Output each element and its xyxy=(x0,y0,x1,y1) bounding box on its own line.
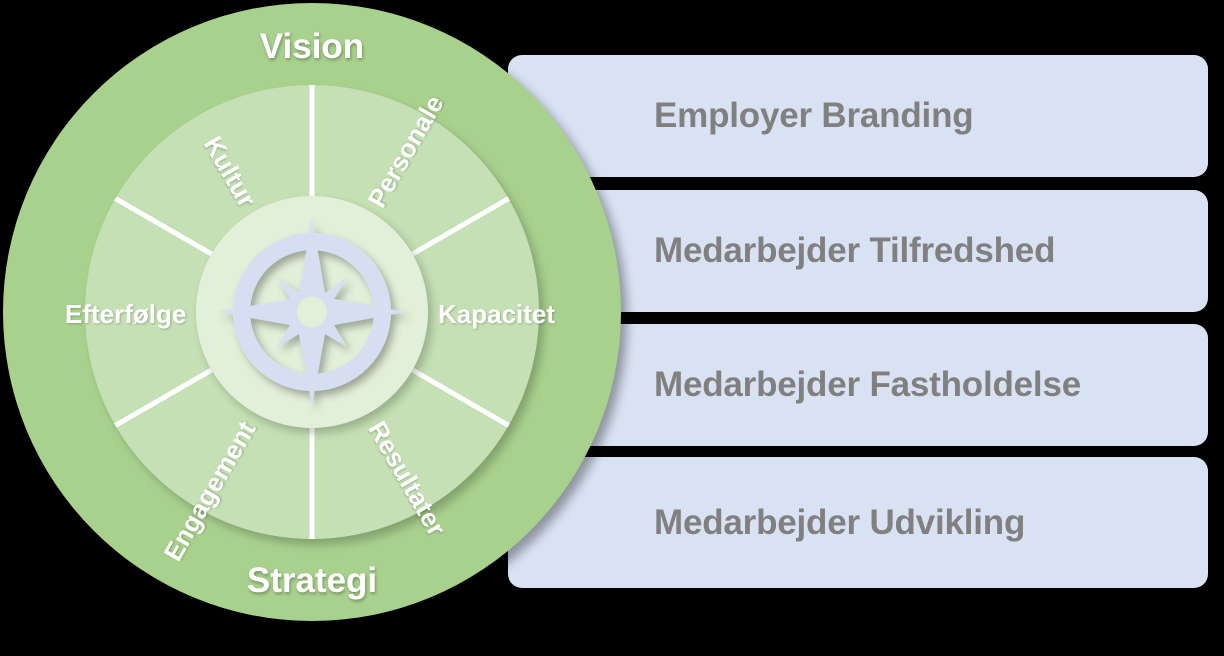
panel-label: Employer Branding xyxy=(654,96,973,136)
diagram-canvas: Employer Branding Medarbejder Tilfredshe… xyxy=(0,0,1224,656)
strategy-wheel: Vision Strategi Personale Kapacitet Resu… xyxy=(3,3,621,621)
segment-label: Kapacitet xyxy=(438,299,555,330)
panel-label: Medarbejder Fastholdelse xyxy=(654,365,1081,405)
segment-label: Efterfølge xyxy=(65,299,186,330)
panel-label: Medarbejder Tilfredshed xyxy=(654,231,1055,271)
ring-label-vision: Vision xyxy=(3,27,621,67)
panel-label: Medarbejder Udvikling xyxy=(654,503,1025,543)
ring-label-strategi: Strategi xyxy=(3,561,621,601)
